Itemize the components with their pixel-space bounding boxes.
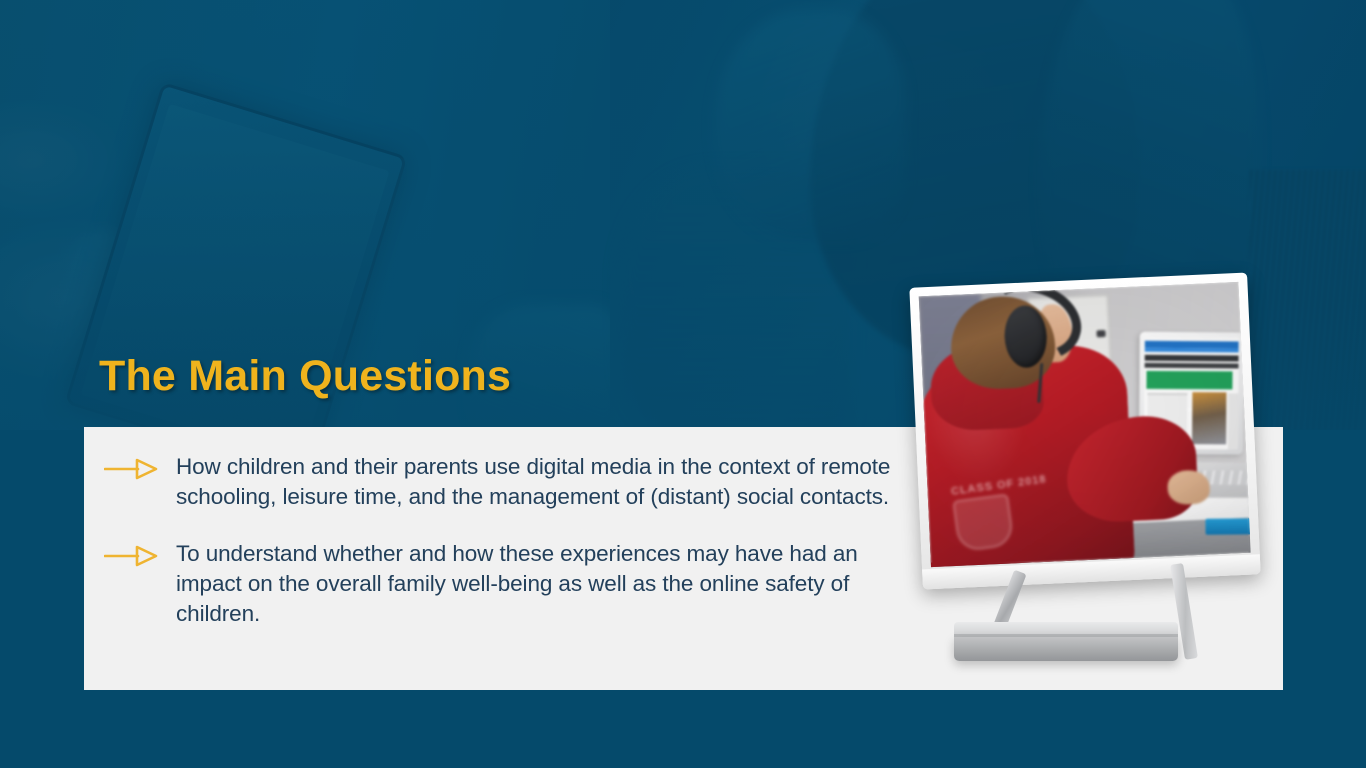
arrow-right-icon [104, 452, 164, 480]
list-item: How children and their parents use digit… [104, 452, 904, 512]
list-item: To understand whether and how these expe… [104, 539, 904, 629]
list-item-label: How children and their parents use digit… [176, 452, 904, 512]
monitor-stand-base [954, 637, 1178, 661]
monitor-bezel: CLASS OF 2018 [909, 272, 1260, 589]
presentation-slide: The Main Questions How children and thei… [0, 0, 1366, 768]
photo-softness-overlay [919, 282, 1251, 567]
monitor-screen: CLASS OF 2018 [919, 282, 1251, 567]
arrow-right-icon [104, 539, 164, 567]
list-item-label: To understand whether and how these expe… [176, 539, 904, 629]
monitor-illustration: CLASS OF 2018 [906, 272, 1266, 682]
bullet-list: How children and their parents use digit… [104, 452, 904, 656]
page-title: The Main Questions [99, 352, 511, 401]
